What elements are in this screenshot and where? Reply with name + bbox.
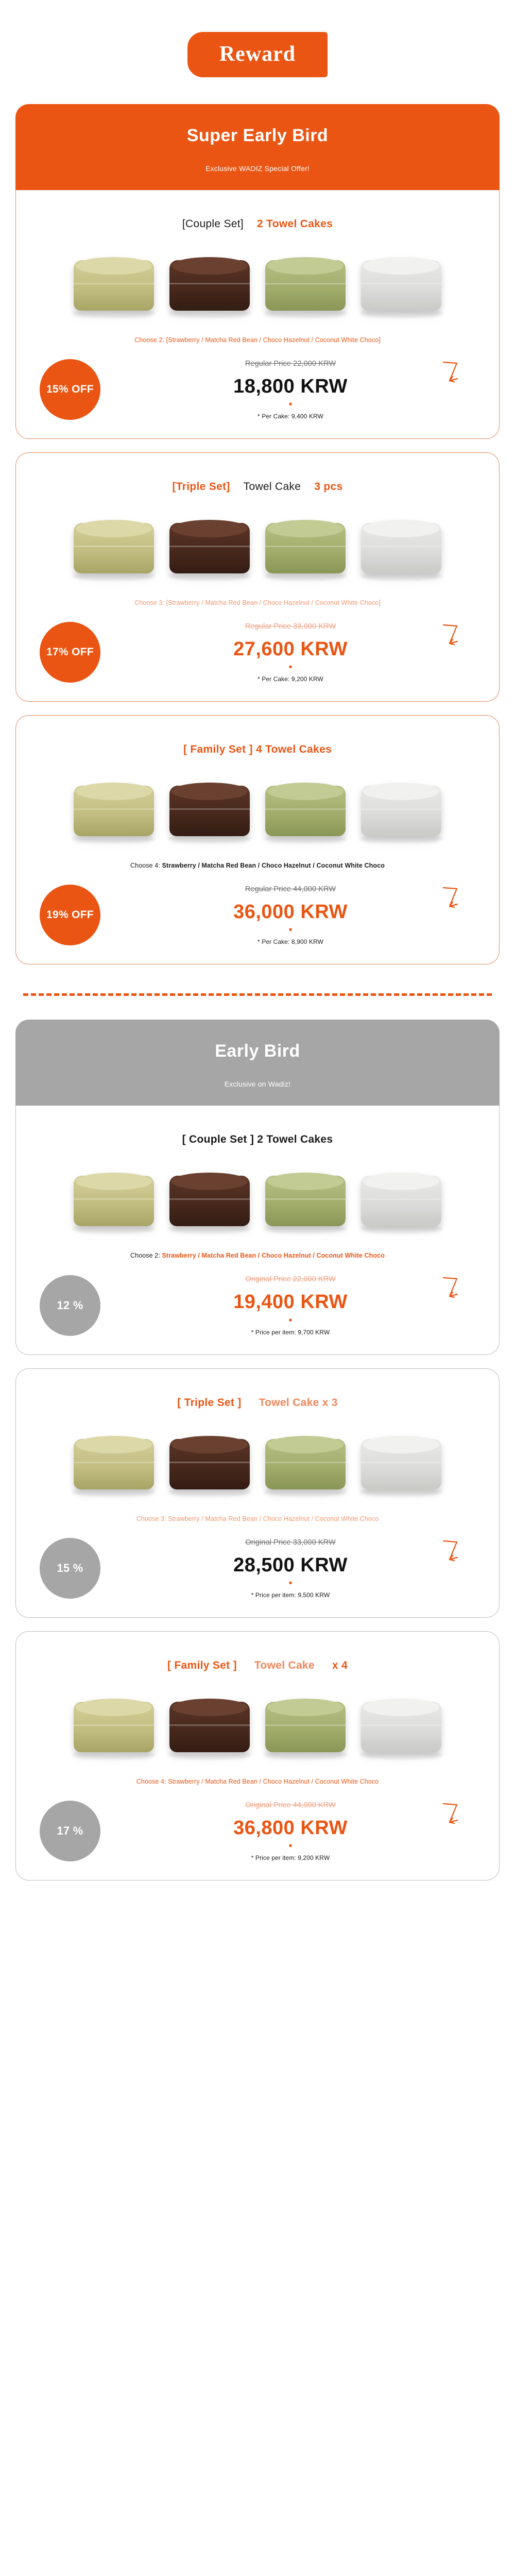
original-price: Regular Price 44,000 KRW xyxy=(245,885,336,893)
towel-cake-icon xyxy=(262,253,349,318)
card-title-part: x 4 xyxy=(332,1659,348,1671)
flavour-choose-line: Choose 3: [Strawberry / Matcha Red Bean … xyxy=(16,592,499,611)
towel-cake-icon xyxy=(166,1168,253,1233)
cake-band xyxy=(169,1462,250,1463)
towel-cake-icon xyxy=(358,778,444,843)
cake-band xyxy=(169,808,250,810)
original-price: Regular Price 22,000 KRW xyxy=(245,360,336,368)
cake-gallery xyxy=(16,1151,499,1245)
price-column: Regular Price 22,000 KRW18,800 KRW•* Per… xyxy=(100,359,475,420)
price-dash: • xyxy=(106,1580,475,1586)
cake-top xyxy=(267,1699,344,1716)
price-column: Original Price 44,000 KRW36,800 KRW•* Pr… xyxy=(100,1801,475,1861)
towel-cake-icon xyxy=(262,1432,349,1497)
choose-values: Strawberry / Matcha Red Bean / Choco Haz… xyxy=(162,862,385,869)
cake-band xyxy=(74,546,154,547)
price-dash: • xyxy=(106,1843,475,1849)
discount-badge: 15 % xyxy=(40,1538,100,1599)
towel-cake-icon xyxy=(358,1432,444,1497)
towel-cake-icon xyxy=(358,253,444,318)
price-row: 15 %Original Price 33,000 KRW28,500 KRW•… xyxy=(16,1527,499,1599)
cake-top xyxy=(171,1699,248,1716)
price-dash: • xyxy=(106,664,475,670)
card-title-part: 3 pcs xyxy=(314,481,342,493)
cake-band xyxy=(361,283,441,284)
per-item-price: * Price per item: 9,500 KRW xyxy=(106,1591,475,1599)
towel-cake-icon xyxy=(71,1168,157,1233)
discounted-price: 18,800 KRW xyxy=(106,376,475,397)
towel-cake-icon xyxy=(262,1694,349,1759)
cake-gallery xyxy=(16,498,499,592)
reward-badge-label: Reward xyxy=(187,32,328,77)
cake-top xyxy=(76,1699,152,1716)
cake-band xyxy=(169,1724,250,1726)
price-column: Original Price 33,000 KRW28,500 KRW•* Pr… xyxy=(100,1538,475,1599)
price-dash: • xyxy=(106,1317,475,1324)
cake-band xyxy=(265,546,346,547)
card-title-part: Towel Cake x 3 xyxy=(259,1397,338,1409)
product-card-eb-family-set[interactable]: [ Family Set ]Towel Cakex 4Choose 4: Str… xyxy=(15,1631,500,1880)
cake-band xyxy=(74,1198,154,1200)
sections-root: Super Early BirdExclusive WADIZ Special … xyxy=(0,104,515,1880)
price-dash: • xyxy=(106,401,475,408)
discounted-price: 19,400 KRW xyxy=(106,1292,475,1313)
section-title: Super Early Bird xyxy=(15,126,500,146)
card-title: [ Family Set ] 4 Towel Cakes xyxy=(16,716,499,761)
discounted-price: 28,500 KRW xyxy=(106,1555,475,1576)
card-title-part: Towel Cake xyxy=(244,481,301,493)
section-header-super-early-bird: Super Early BirdExclusive WADIZ Special … xyxy=(15,104,500,190)
product-card-couple-set[interactable]: [Couple Set]2 Towel CakesChoose 2: [Stra… xyxy=(15,190,500,439)
cake-band xyxy=(265,1462,346,1463)
flavour-choose-line: Choose 4: Strawberry / Matcha Red Bean /… xyxy=(16,1771,499,1789)
card-title-part: [ Family Set ] xyxy=(167,1659,237,1671)
price-row: 17% OFFRegular Price 33,000 KRW27,600 KR… xyxy=(16,611,499,683)
discount-badge: 19% OFF xyxy=(40,885,100,945)
price-dash: • xyxy=(106,927,475,933)
cake-band xyxy=(361,808,441,810)
discounted-price: 36,800 KRW xyxy=(106,1818,475,1839)
card-title-part: [ Family Set ] 4 Towel Cakes xyxy=(183,743,332,755)
cake-band xyxy=(265,808,346,810)
cake-gallery xyxy=(16,1677,499,1771)
discount-badge: 17 % xyxy=(40,1801,100,1861)
discount-badge: 17% OFF xyxy=(40,622,100,683)
price-row: 19% OFFRegular Price 44,000 KRW36,000 KR… xyxy=(16,873,499,945)
cake-band xyxy=(265,1724,346,1726)
per-item-price: * Price per item: 9,700 KRW xyxy=(106,1329,475,1336)
towel-cake-icon xyxy=(71,1694,157,1759)
cake-top xyxy=(171,1436,248,1453)
cake-band xyxy=(169,1198,250,1200)
towel-cake-icon xyxy=(166,778,253,843)
towel-cake-icon xyxy=(262,778,349,843)
cake-band xyxy=(74,808,154,810)
per-item-price: * Per Cake: 9,200 KRW xyxy=(106,675,475,683)
reward-banner: Reward xyxy=(0,0,515,104)
price-column: Regular Price 44,000 KRW36,000 KRW•* Per… xyxy=(100,885,475,945)
towel-cake-icon xyxy=(358,1694,444,1759)
choose-lead: Choose 2: xyxy=(130,1252,162,1259)
promo-page: Reward Super Early BirdExclusive WADIZ S… xyxy=(0,0,515,1901)
section-subtitle: Exclusive WADIZ Special Offer! xyxy=(15,164,500,173)
card-title-part: Towel Cake xyxy=(254,1659,315,1671)
dashed-divider-icon xyxy=(23,993,492,996)
cake-band xyxy=(169,546,250,547)
card-title-part: [Couple Set] xyxy=(182,218,244,230)
card-title-part: [ Triple Set ] xyxy=(177,1397,241,1409)
original-price: Original Price 33,000 KRW xyxy=(245,1538,336,1547)
towel-cake-icon xyxy=(166,1432,253,1497)
cake-band xyxy=(361,1724,441,1726)
price-column: Original Price 22,000 KRW19,400 KRW•* Pr… xyxy=(100,1275,475,1335)
discounted-price: 27,600 KRW xyxy=(106,639,475,660)
product-card-triple-set[interactable]: [Triple Set]Towel Cake3 pcsChoose 3: [St… xyxy=(15,452,500,702)
choose-lead: Choose 4: xyxy=(130,862,162,869)
card-title: [ Couple Set ] 2 Towel Cakes xyxy=(16,1106,499,1151)
card-title: [ Family Set ]Towel Cakex 4 xyxy=(16,1632,499,1677)
discount-badge: 15% OFF xyxy=(40,359,100,420)
cake-gallery xyxy=(16,761,499,855)
towel-cake-icon xyxy=(71,778,157,843)
towel-cake-icon xyxy=(358,1168,444,1233)
discount-badge: 12 % xyxy=(40,1275,100,1336)
section-subtitle: Exclusive on Wadiz! xyxy=(15,1080,500,1088)
price-column: Regular Price 33,000 KRW27,600 KRW•* Per… xyxy=(100,622,475,683)
cake-band xyxy=(265,1198,346,1200)
cake-top xyxy=(363,1699,439,1716)
section-header-early-bird: Early BirdExclusive on Wadiz! xyxy=(15,1020,500,1106)
towel-cake-icon xyxy=(166,516,253,581)
card-title: [ Triple Set ]Towel Cake x 3 xyxy=(16,1369,499,1414)
cake-band xyxy=(74,1462,154,1463)
cake-band xyxy=(74,283,154,284)
card-title: [Triple Set]Towel Cake3 pcs xyxy=(16,453,499,498)
per-item-price: * Price per item: 9,200 KRW xyxy=(106,1854,475,1861)
product-card-eb-couple-set[interactable]: [ Couple Set ] 2 Towel CakesChoose 2: St… xyxy=(15,1106,500,1354)
cake-band xyxy=(265,283,346,284)
flavour-choose-line: Choose 2: [Strawberry / Matcha Red Bean … xyxy=(16,329,499,348)
price-row: 12 %Original Price 22,000 KRW19,400 KRW•… xyxy=(16,1263,499,1335)
per-item-price: * Per Cake: 8,900 KRW xyxy=(106,938,475,945)
discounted-price: 36,000 KRW xyxy=(106,902,475,923)
card-title-part: 2 Towel Cakes xyxy=(257,218,333,230)
cake-band xyxy=(361,546,441,547)
cake-gallery xyxy=(16,1414,499,1508)
towel-cake-icon xyxy=(71,516,157,581)
per-item-price: * Per Cake: 9,400 KRW xyxy=(106,413,475,420)
towel-cake-icon xyxy=(71,1432,157,1497)
towel-cake-icon xyxy=(71,253,157,318)
cake-top xyxy=(363,1436,439,1453)
cake-top xyxy=(76,1436,152,1453)
flavour-choose-line: Choose 2: Strawberry / Matcha Red Bean /… xyxy=(16,1245,499,1263)
towel-cake-icon xyxy=(166,253,253,318)
original-price: Regular Price 33,000 KRW xyxy=(245,622,336,631)
price-row: 17 %Original Price 44,000 KRW36,800 KRW•… xyxy=(16,1789,499,1861)
towel-cake-icon xyxy=(262,516,349,581)
cake-top xyxy=(267,1436,344,1453)
price-row: 15% OFFRegular Price 22,000 KRW18,800 KR… xyxy=(16,348,499,420)
card-title-part: [ Couple Set ] 2 Towel Cakes xyxy=(182,1133,333,1145)
section-title: Early Bird xyxy=(15,1041,500,1061)
towel-cake-icon xyxy=(166,1694,253,1759)
cake-band xyxy=(361,1198,441,1200)
card-title: [Couple Set]2 Towel Cakes xyxy=(16,190,499,235)
towel-cake-icon xyxy=(262,1168,349,1233)
original-price: Original Price 22,000 KRW xyxy=(245,1275,336,1283)
cake-gallery xyxy=(16,235,499,329)
original-price: Original Price 44,000 KRW xyxy=(245,1801,336,1809)
flavour-choose-line: Choose 3: Strawberry / Matcha Red Bean /… xyxy=(16,1508,499,1527)
cake-band xyxy=(74,1724,154,1726)
flavour-choose-line: Choose 4: Strawberry / Matcha Red Bean /… xyxy=(16,855,499,873)
cake-band xyxy=(361,1462,441,1463)
card-title-part: [Triple Set] xyxy=(173,481,230,493)
product-card-family-set[interactable]: [ Family Set ] 4 Towel CakesChoose 4: St… xyxy=(15,715,500,964)
towel-cake-icon xyxy=(358,516,444,581)
choose-values: Strawberry / Matcha Red Bean / Choco Haz… xyxy=(162,1252,385,1259)
product-card-eb-triple-set[interactable]: [ Triple Set ]Towel Cake x 3Choose 3: St… xyxy=(15,1368,500,1618)
cake-band xyxy=(169,283,250,284)
